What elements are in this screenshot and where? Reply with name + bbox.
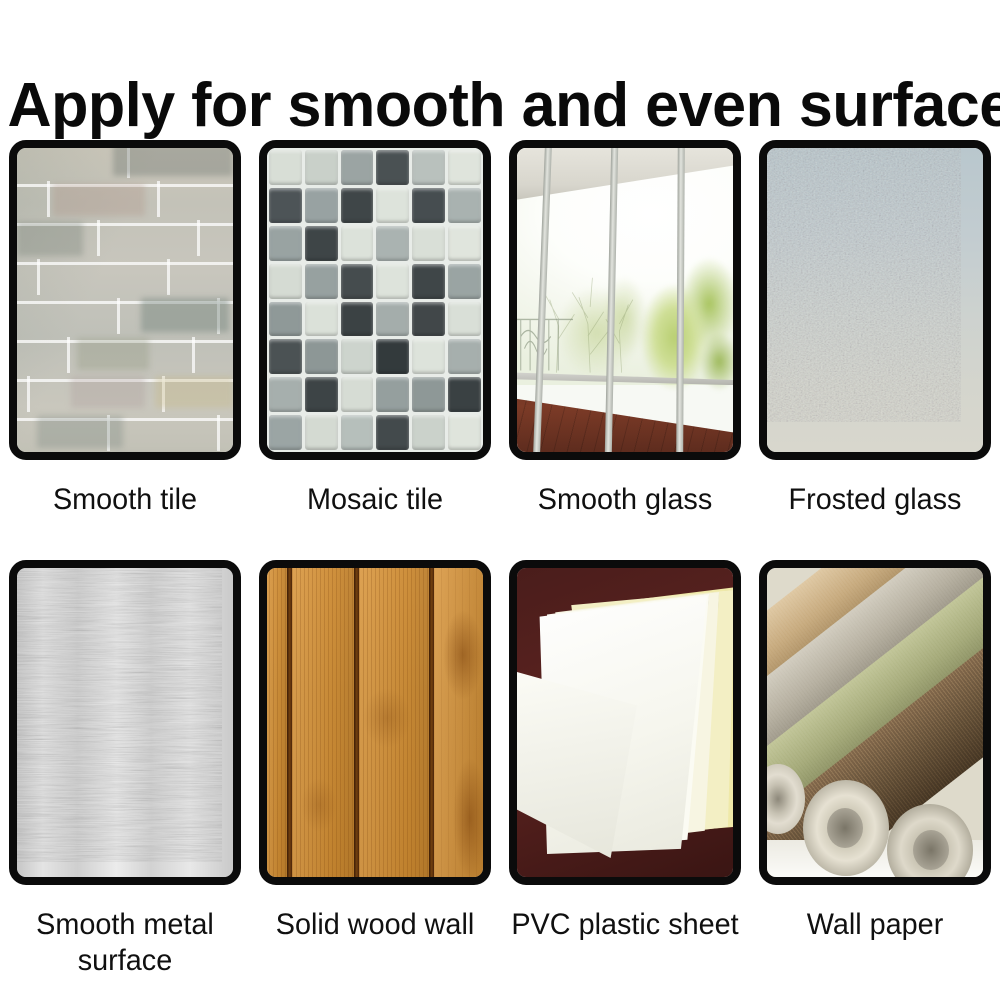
infographic-page: Apply for smooth and even surface xyxy=(0,0,1000,1000)
surface-row-2: Smooth metal surface xyxy=(0,560,1000,990)
surface-grid: Smooth tile Mosaic tile xyxy=(0,140,1000,990)
page-title: Apply for smooth and even surface xyxy=(8,72,993,140)
solid-wood-image xyxy=(267,568,483,877)
surface-card-smooth-tile[interactable]: Smooth tile xyxy=(0,140,250,560)
surface-card-mosaic-tile[interactable]: Mosaic tile xyxy=(250,140,500,560)
surface-card-solid-wood-wall[interactable]: Solid wood wall xyxy=(250,560,500,990)
surface-card-wall-paper[interactable]: Wall paper xyxy=(750,560,1000,990)
frosted-glass-label: Frosted glass xyxy=(755,482,995,518)
wall-paper-label: Wall paper xyxy=(755,907,995,943)
mosaic-tile-frame xyxy=(259,140,491,460)
smooth-metal-label: Smooth metal surface xyxy=(5,907,245,979)
frosted-glass-image xyxy=(767,148,983,452)
surface-card-smooth-metal-surface[interactable]: Smooth metal surface xyxy=(0,560,250,990)
mosaic-tile-image xyxy=(267,148,483,452)
pvc-sheet-frame xyxy=(509,560,741,885)
solid-wood-label: Solid wood wall xyxy=(255,907,495,943)
surface-card-smooth-glass[interactable]: Smooth glass xyxy=(500,140,750,560)
wall-paper-image xyxy=(767,568,983,877)
smooth-metal-frame xyxy=(9,560,241,885)
mosaic-tile-label: Mosaic tile xyxy=(255,482,495,518)
pvc-sheet-label: PVC plastic sheet xyxy=(505,907,745,943)
smooth-glass-label: Smooth glass xyxy=(505,482,745,518)
smooth-metal-image xyxy=(17,568,233,877)
solid-wood-frame xyxy=(259,560,491,885)
smooth-tile-frame xyxy=(9,140,241,460)
surface-card-frosted-glass[interactable]: Frosted glass xyxy=(750,140,1000,560)
smooth-tile-label: Smooth tile xyxy=(5,482,245,518)
surface-row-1: Smooth tile Mosaic tile xyxy=(0,140,1000,560)
wall-paper-frame xyxy=(759,560,991,885)
frosted-glass-frame xyxy=(759,140,991,460)
smooth-tile-image xyxy=(17,148,233,452)
smooth-glass-image xyxy=(517,148,733,452)
pvc-sheet-image xyxy=(517,568,733,877)
surface-card-pvc-plastic-sheet[interactable]: PVC plastic sheet xyxy=(500,560,750,990)
smooth-glass-frame xyxy=(509,140,741,460)
